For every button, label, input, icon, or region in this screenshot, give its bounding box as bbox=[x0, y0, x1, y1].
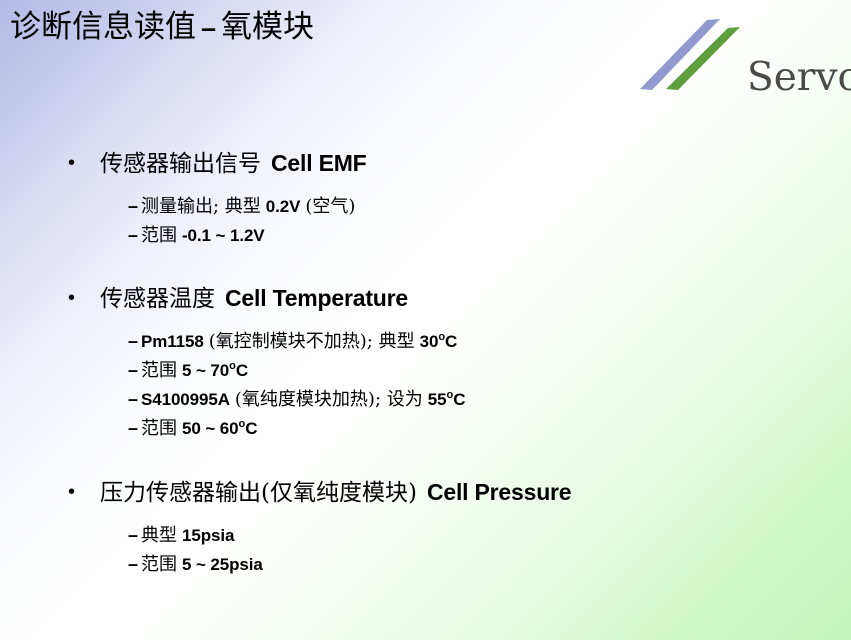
slide-title-left: 诊断信息读值 bbox=[10, 9, 196, 45]
sub-text-cn-2: (氧控制模块不加热); 典型 bbox=[209, 331, 415, 352]
sub-text-en: 50 ~ 60 bbox=[182, 419, 239, 438]
sub-dash-icon: – bbox=[128, 327, 138, 355]
servomex-logo: Servomex bbox=[616, 18, 851, 110]
sub-text-unit: C bbox=[453, 390, 465, 409]
sub-text-unit: C bbox=[236, 361, 248, 380]
slide-canvas: 诊断信息读值–氧模块 Servomex • 传感器输出信号Cell EMF bbox=[0, 0, 851, 640]
sub-bullet: – 典型15psia bbox=[0, 521, 571, 550]
bullet-heading: • 传感器输出信号Cell EMF bbox=[0, 148, 367, 180]
sub-text-en: 0.2V bbox=[266, 197, 301, 216]
sub-text-cn: 典型 bbox=[141, 525, 177, 546]
sub-bullet: – 范围5 ~ 70oC bbox=[0, 356, 465, 385]
bullet-group-cell-pressure: • 压力传感器输出(仅氧纯度模块)Cell Pressure – 典型15psi… bbox=[0, 477, 571, 579]
sub-text-en: 5 ~ 25psia bbox=[182, 555, 263, 574]
slide-title: 诊断信息读值–氧模块 bbox=[10, 8, 314, 47]
bullet-marker-icon: • bbox=[68, 283, 75, 314]
sub-text-en: 5 ~ 70 bbox=[182, 361, 229, 380]
sub-text-en: Pm1158 bbox=[141, 332, 204, 351]
sub-dash-icon: – bbox=[128, 414, 138, 442]
sub-dash-icon: – bbox=[128, 192, 138, 220]
sub-bullet: – S4100995A(氧纯度模块加热); 设为55oC bbox=[0, 385, 465, 414]
sub-text-en: S4100995A bbox=[141, 390, 230, 409]
sub-bullet: – 范围-0.1 ~ 1.2V bbox=[0, 221, 367, 250]
sub-text-cn: 范围 bbox=[141, 418, 177, 439]
degree-sup: o bbox=[229, 360, 236, 372]
sub-dash-icon: – bbox=[128, 521, 138, 549]
sub-text-cn-2: (氧纯度模块加热); 设为 bbox=[235, 389, 423, 410]
sub-dash-icon: – bbox=[128, 356, 138, 384]
bullet-marker-icon: • bbox=[68, 148, 75, 179]
bullet-group-cell-temperature: • 传感器温度Cell Temperature – Pm1158(氧控制模块不加… bbox=[0, 283, 465, 443]
heading-en: Cell EMF bbox=[271, 150, 367, 176]
heading-cn: 传感器温度 bbox=[100, 286, 215, 312]
sub-text-value: 55 bbox=[428, 390, 447, 409]
sub-text-unit: C bbox=[445, 332, 457, 351]
bullet-group-cell-emf: • 传感器输出信号Cell EMF – 测量输出; 典型0.2V(空气) – 范… bbox=[0, 148, 367, 250]
heading-cn: 传感器输出信号 bbox=[100, 151, 261, 177]
sub-bullet: – 范围50 ~ 60oC bbox=[0, 414, 465, 443]
bullet-heading: • 传感器温度Cell Temperature bbox=[0, 283, 465, 315]
sub-dash-icon: – bbox=[128, 221, 138, 249]
slide-title-right: 氧模块 bbox=[221, 9, 314, 45]
sub-text-value: 30 bbox=[420, 332, 439, 351]
sub-text-en: -0.1 ~ 1.2V bbox=[182, 226, 265, 245]
bullet-marker-icon: • bbox=[68, 477, 75, 508]
sub-text-cn: 范围 bbox=[141, 360, 177, 381]
sub-bullet: – 范围5 ~ 25psia bbox=[0, 550, 571, 579]
sub-text-cn: 范围 bbox=[141, 225, 177, 246]
logo-wordmark: Servomex bbox=[747, 55, 851, 100]
heading-en: Cell Pressure bbox=[427, 479, 571, 505]
sub-text-en: 15psia bbox=[182, 526, 234, 545]
sub-dash-icon: – bbox=[128, 550, 138, 578]
sub-bullet: – Pm1158(氧控制模块不加热); 典型30oC bbox=[0, 327, 465, 356]
sub-text-cn: 范围 bbox=[141, 554, 177, 575]
heading-cn: 压力传感器输出(仅氧纯度模块) bbox=[100, 480, 417, 506]
sub-text-unit: C bbox=[245, 419, 257, 438]
heading-en: Cell Temperature bbox=[225, 285, 408, 311]
slide-title-dash: – bbox=[201, 13, 216, 43]
sub-text-cn: 测量输出; 典型 bbox=[141, 196, 261, 217]
bullet-heading: • 压力传感器输出(仅氧纯度模块)Cell Pressure bbox=[0, 477, 571, 509]
sub-dash-icon: – bbox=[128, 385, 138, 413]
sub-text-cn-2: (空气) bbox=[305, 196, 355, 217]
sub-bullet: – 测量输出; 典型0.2V(空气) bbox=[0, 192, 367, 221]
